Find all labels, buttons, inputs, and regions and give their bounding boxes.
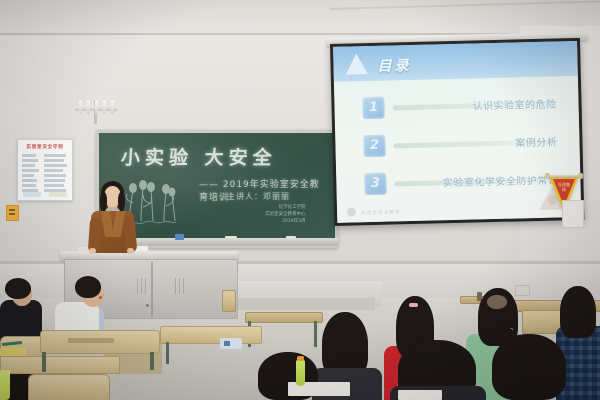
slide-header: 目录 bbox=[333, 41, 578, 82]
podium-lock bbox=[146, 304, 149, 307]
toc-item-2: 2 案例分析 bbox=[363, 130, 559, 157]
notebook bbox=[398, 390, 442, 400]
slide-body: 1 认识实验室的危险 2 案例分析 3 实验室化学安全防护常识 实验 bbox=[334, 76, 581, 223]
blackboard-headline: 小实验 大安全 bbox=[120, 143, 321, 170]
wall-poster: 实验室安全守则 bbox=[17, 139, 73, 201]
wall-socket-icon bbox=[515, 285, 530, 296]
desk-leg bbox=[150, 352, 154, 370]
toc-label: 案例分析 bbox=[515, 133, 557, 149]
toc-label: 认识实验室的危险 bbox=[472, 95, 556, 112]
blackboard-credit: 化学化工学院 实验室安全教育中心 2019年3月 bbox=[265, 205, 306, 225]
slide-footer-logo-icon bbox=[347, 207, 356, 216]
student-green-top-head bbox=[487, 295, 507, 309]
pencil-case bbox=[220, 338, 242, 349]
toc-number: 1 bbox=[362, 97, 385, 120]
chalk-stick bbox=[225, 236, 237, 239]
poster-stamp-right bbox=[49, 192, 67, 197]
poster-row bbox=[22, 159, 68, 162]
presenter-hair-right bbox=[118, 192, 125, 212]
water-bottle bbox=[296, 360, 305, 386]
pennant-knob bbox=[578, 173, 583, 179]
stool bbox=[222, 290, 236, 312]
notebook-yellow bbox=[0, 348, 26, 356]
wall-poster-title: 实验室安全守则 bbox=[18, 144, 72, 150]
mountain-logo-icon bbox=[345, 53, 368, 75]
desk-front-left-surface bbox=[0, 356, 120, 374]
presenter-hand-right bbox=[127, 248, 134, 254]
student-front-left-hair bbox=[5, 278, 31, 299]
student-white-hoodie-hair bbox=[75, 276, 101, 298]
classroom-photo: 实验室安全守则 小实验 大安全 —— 2019年实验室安全教育培训 主讲人：邓丽… bbox=[0, 0, 600, 400]
water-bottle bbox=[0, 370, 10, 400]
lamp-tube bbox=[95, 100, 98, 114]
slide-title: 目录 bbox=[377, 55, 411, 76]
poster-row bbox=[22, 184, 68, 187]
wall-outlet-icon bbox=[562, 200, 584, 228]
presenter-hand-left bbox=[89, 248, 96, 254]
chalk-stick bbox=[286, 236, 296, 239]
toc-item-1: 1 认识实验室的危险 bbox=[362, 92, 558, 119]
poster-row bbox=[22, 164, 68, 167]
chair-back bbox=[28, 374, 110, 400]
presenter-hair-left bbox=[100, 192, 107, 212]
poster-row bbox=[22, 154, 68, 157]
toc-number: 2 bbox=[363, 135, 386, 158]
poster-row bbox=[22, 169, 68, 172]
projection-screen-frame: 目录 1 认识实验室的危险 2 案例分析 3 实验室化学安全防护常识 bbox=[330, 38, 584, 226]
desk-marking bbox=[68, 338, 114, 343]
presenter-arm-left bbox=[88, 218, 101, 253]
eraser bbox=[175, 234, 184, 240]
student-hand-object bbox=[99, 296, 102, 299]
blackboard-subtitle: —— 2019年实验室安全教育培训 bbox=[199, 177, 329, 203]
desk-front-center bbox=[160, 326, 262, 344]
pennant-text: 先进集体 bbox=[557, 182, 571, 193]
blackboard-speaker: 主讲人：邓丽丽 bbox=[227, 191, 290, 202]
slide-footer-text: 实验室安全教育 bbox=[361, 209, 401, 216]
desk-leg bbox=[166, 342, 169, 364]
poster-row bbox=[22, 174, 68, 177]
desk-leg bbox=[314, 321, 317, 347]
toc-number: 3 bbox=[364, 173, 387, 196]
bottle-cap bbox=[297, 356, 304, 361]
lamp-tube bbox=[87, 100, 90, 114]
desk-leg bbox=[42, 352, 46, 372]
projection-screen: 目录 1 认识实验室的危险 2 案例分析 3 实验室化学安全防护常识 bbox=[333, 41, 581, 223]
toc-item-3: 3 实验室化学安全防护常识 bbox=[364, 168, 560, 195]
hair-clip bbox=[409, 303, 418, 307]
ceiling bbox=[0, 0, 600, 36]
desk bbox=[245, 312, 323, 323]
poster-row bbox=[22, 179, 68, 182]
lamp-tube bbox=[103, 100, 106, 114]
student-back-row-right-hair bbox=[492, 334, 566, 400]
student-plaid-top-hair bbox=[560, 286, 596, 338]
lamp-tube bbox=[79, 100, 82, 114]
poster-stamp-left bbox=[23, 192, 41, 197]
fire-alarm-box-icon bbox=[6, 205, 19, 221]
lamp-tube bbox=[111, 100, 114, 114]
